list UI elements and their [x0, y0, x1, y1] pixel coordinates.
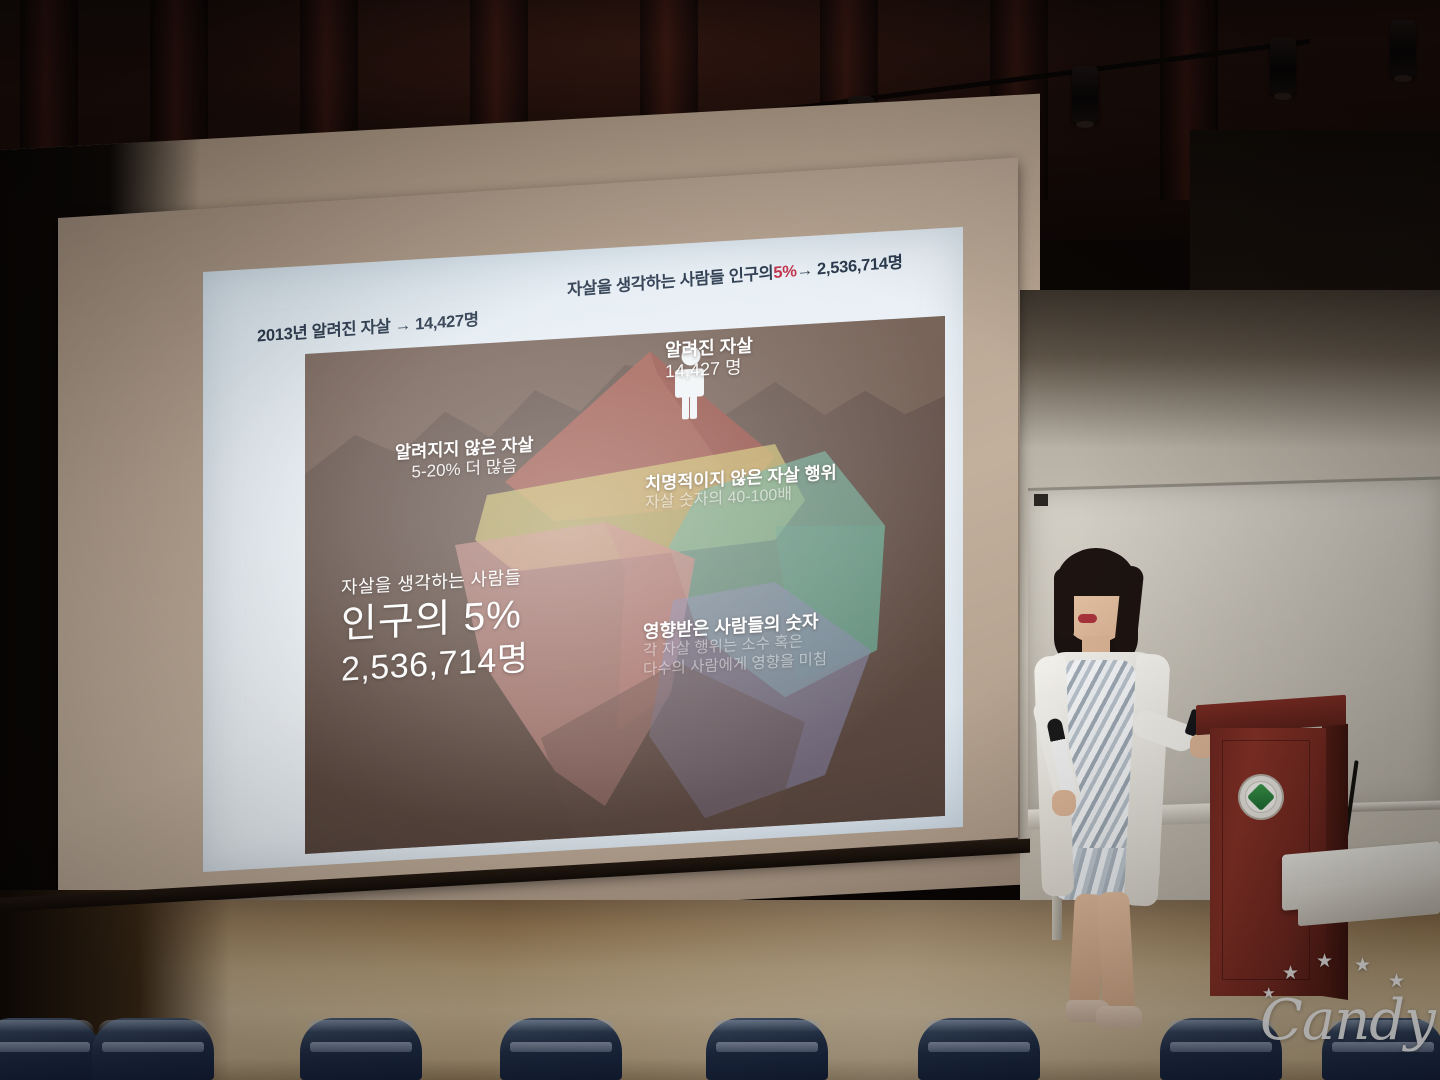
presenter-hair-left — [1054, 568, 1074, 640]
stage-lamp — [1270, 38, 1296, 96]
whiteboard-bracket — [1034, 494, 1048, 506]
presenter-lips — [1078, 614, 1097, 623]
header-left-line: 2013년 알려진 자살 → 14,427명 — [257, 306, 479, 347]
audience-seating — [0, 1018, 1440, 1080]
presenter-left-hand — [1052, 790, 1076, 816]
header-suffix-text: → 2,536,714명 — [796, 248, 903, 281]
podium — [1196, 700, 1346, 1000]
seat — [300, 1018, 422, 1080]
seat — [706, 1018, 828, 1080]
lecture-hall-scene: 2013년 알려진 자살 → 14,427명 자살을 생각하는 사람들 인구의 … — [0, 0, 1440, 1080]
label-affected-people: 영향받은 사람들의 숫자 각 자살 행위는 소수 혹은 다수의 사람에게 영향을… — [643, 611, 827, 680]
seat — [500, 1018, 622, 1080]
header-right-line: 자살을 생각하는 사람들 인구의 5% → 2,536,714명 — [567, 248, 903, 300]
podium-crest-icon — [1240, 776, 1282, 818]
stage-lamp — [1072, 66, 1098, 124]
stage-lamp — [1390, 20, 1416, 78]
label-unknown-suicides: 알려지지 않은 자살 5-20% 더 많음 — [395, 434, 534, 483]
projected-slide: 2013년 알려진 자살 → 14,427명 자살을 생각하는 사람들 인구의 … — [203, 227, 963, 872]
seat — [92, 1018, 214, 1080]
header-prefix-text: 자살을 생각하는 사람들 인구의 — [567, 259, 774, 300]
seat — [918, 1018, 1040, 1080]
header-known-suicides-text: 2013년 알려진 자살 → 14,427명 — [257, 306, 479, 347]
header-accent-percent: 5% — [773, 262, 797, 283]
label-known-suicides: 알려진 자살 14,427 명 — [665, 335, 753, 383]
presenter-right-leg — [1097, 891, 1135, 1013]
iceberg-infographic: 알려진 자살 14,427 명 알려지지 않은 자살 5-20% 더 많음 치명… — [305, 316, 945, 854]
presenter — [1022, 548, 1212, 1048]
seat — [0, 1018, 100, 1080]
seat — [1322, 1018, 1440, 1080]
seat — [1160, 1018, 1282, 1080]
label-people-thinking: 자살을 생각하는 사람들 인구의 5% 2,536,714명 — [341, 567, 529, 691]
